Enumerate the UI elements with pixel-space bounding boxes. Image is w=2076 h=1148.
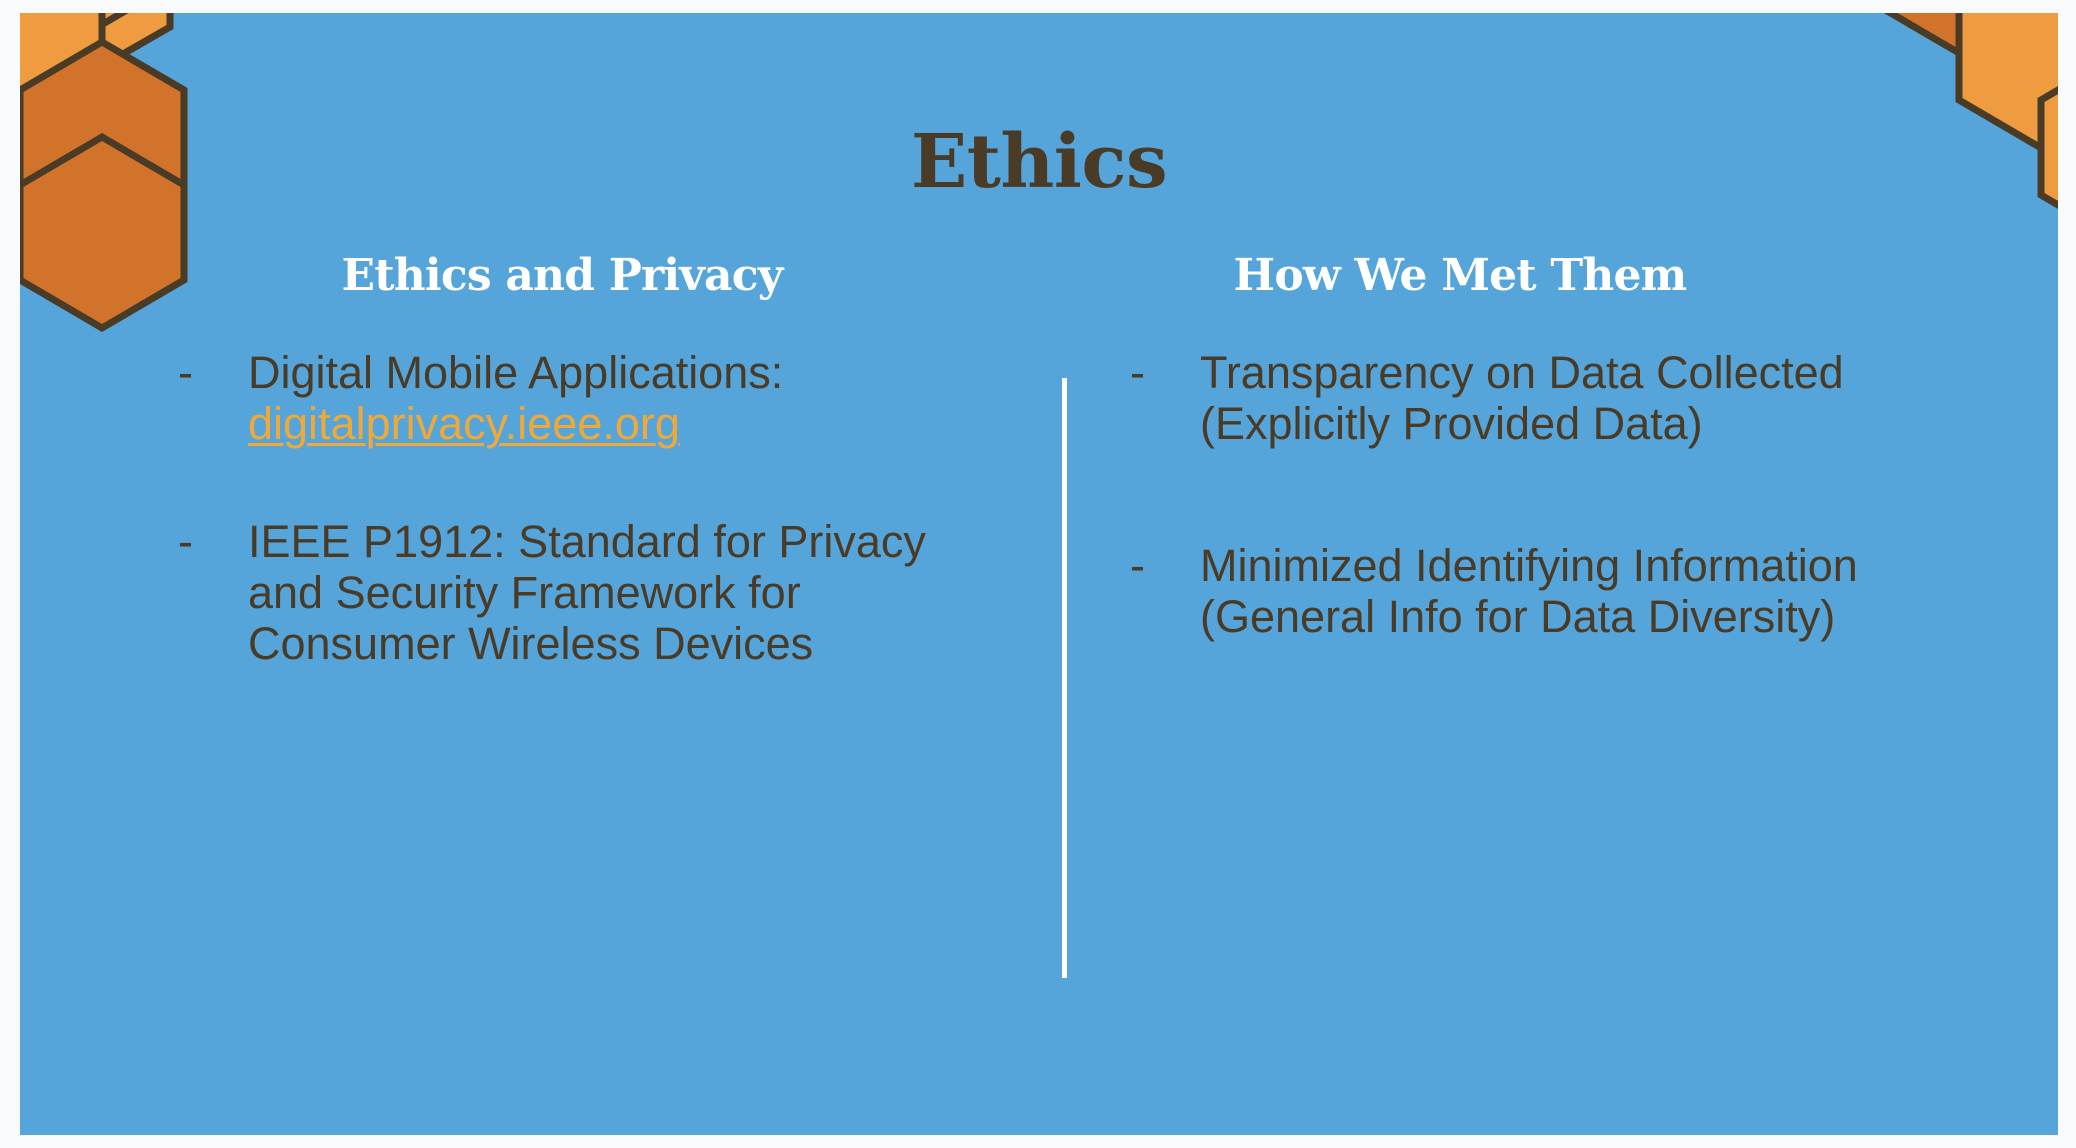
list-item: - IEEE P1912: Standard for Privacy and S…: [150, 516, 960, 670]
privacy-standards-link[interactable]: digitalprivacy.ieee.org: [248, 398, 960, 449]
hex-top-right-light-1: [2041, 13, 2058, 53]
bullet-dash-icon: -: [1130, 540, 1145, 591]
list-item: - Digital Mobile Applications: digitalpr…: [150, 347, 960, 450]
hex-top-left-mid: [20, 13, 102, 138]
hex-top-left-top: [20, 13, 144, 48]
column-left-heading: Ethics and Privacy: [150, 253, 960, 299]
list-item-text: Digital Mobile Applications:: [248, 347, 783, 398]
column-left: Ethics and Privacy - Digital Mobile Appl…: [150, 253, 960, 736]
list-item-text: Transparency on Data Collected (Explicit…: [1200, 347, 1844, 449]
hex-top-right-dark: [1877, 13, 2041, 53]
hex-top-left-2-upper: [20, 13, 170, 27]
list-item-text: IEEE P1912: Standard for Privacy and Sec…: [248, 516, 926, 670]
list-item: - Minimized Identifying Information (Gen…: [1100, 540, 1940, 643]
column-left-bullet-list: - Digital Mobile Applications: digitalpr…: [150, 347, 960, 669]
content-columns: Ethics and Privacy - Digital Mobile Appl…: [20, 253, 2058, 1133]
list-item-text: Minimized Identifying Information (Gener…: [1200, 540, 1858, 642]
bullet-dash-icon: -: [178, 516, 193, 567]
bullet-dash-icon: -: [1130, 347, 1145, 398]
bullet-dash-icon: -: [178, 347, 193, 398]
column-right-heading: How We Met Them: [1100, 253, 1940, 299]
slide-root: Ethics Ethics and Privacy - Digital Mobi…: [0, 0, 2076, 1148]
list-item: - Transparency on Data Collected (Explic…: [1100, 347, 1940, 450]
slide-canvas: Ethics Ethics and Privacy - Digital Mobi…: [20, 13, 2058, 1135]
column-right-bullet-list: - Transparency on Data Collected (Explic…: [1100, 347, 1940, 642]
slide-title: Ethics: [20, 125, 2058, 200]
hex-top-left-1: [20, 13, 170, 70]
column-right: How We Met Them - Transparency on Data C…: [1100, 253, 1940, 708]
